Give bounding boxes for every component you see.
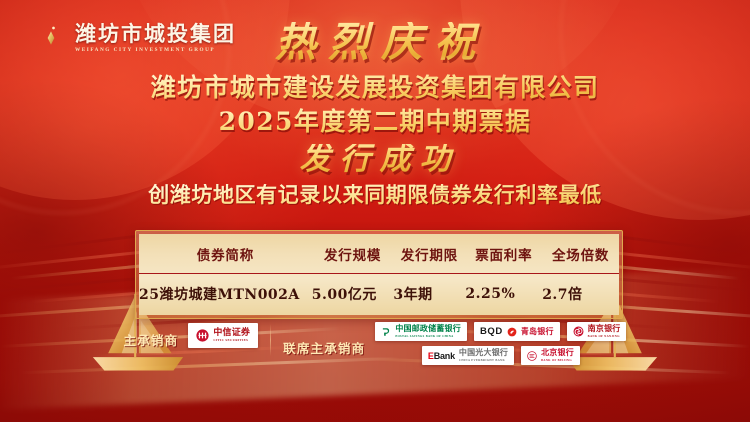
citic-securities-logo: 中信证券 CITIC SECURITIES [188,323,258,348]
joint-underwriter-logos: 中国邮政储蓄银行 POSTAL SAVINGS BANK OF CHINA BQ… [375,322,626,365]
bank-of-beijing-name-cn: 北京银行 [541,349,574,357]
citic-securities-name-en: CITIC SECURITIES [213,339,250,342]
postal-savings-bank-logo: 中国邮政储蓄银行 POSTAL SAVINGS BANK OF CHINA [375,322,467,341]
company-logo-name-cn: 潍坊市城投集团 [75,23,236,45]
everbright-bank-name-cn: 中国光大银行 [459,349,508,357]
lead-underwriter-group: 主承销商 中信证券 CITIC SECURITIES [124,322,259,349]
underwriter-divider [270,324,271,356]
joint-logo-row-2: EBank 中国光大银行 CHINA EVERBRIGHT BANK 北京银行 [375,346,626,365]
headline-record-note: 创潍坊地区有记录以来同期限债券发行利率最低 [0,184,750,207]
citic-securities-logo-icon [196,329,209,342]
headline-company-name: 潍坊市城市建设发展投资集团有限公司 [0,74,750,102]
column-header-issue-scale: 发行规模 [312,234,394,274]
column-header-subscription-multiple: 全场倍数 [542,234,619,274]
underwriters-section: 主承销商 中信证券 CITIC SECURITIES 联席主承销商 [0,322,750,365]
bank-of-qingdao-logo-icon [507,327,517,337]
headline-success: 发行成功 [0,144,750,175]
bank-of-nanjing-name-cn: 南京银行 [588,325,621,333]
company-logo-name-en: WEIFANG CITY INVESTMENT GROUP [75,47,236,53]
cell-bond-name: 25潍坊城建MTN002A [139,274,312,316]
postal-savings-bank-logo-icon [381,327,391,337]
joint-underwriter-label: 联席主承销商 [283,330,365,357]
bank-of-nanjing-name-en: BANK OF NANJING [588,335,621,338]
everbright-bank-name-en: CHINA EVERBRIGHT BANK [459,359,508,362]
celebration-poster: 潍坊市城投集团 WEIFANG CITY INVESTMENT GROUP 热烈… [0,0,750,422]
column-header-bond-name: 债券简称 [139,234,312,274]
bank-of-nanjing-logo-icon [573,326,584,337]
bank-of-qingdao-logo: BQD 青岛银行 [474,322,560,341]
postal-savings-bank-name-en: POSTAL SAVINGS BANK OF CHINA [395,335,461,338]
lead-underwriter-label: 主承销商 [124,322,179,349]
company-logo: 潍坊市城投集团 WEIFANG CITY INVESTMENT GROUP [26,18,236,58]
headline-issue-name: 2025年度第二期中期票据 [0,108,750,136]
bank-of-beijing-name-en: BANK OF BEIJING [541,359,574,362]
table-header-row: 债券简称 发行规模 发行期限 票面利率 全场倍数 [139,234,619,274]
bond-table-frame: 债券简称 发行规模 发行期限 票面利率 全场倍数 25潍坊城建MTN002A 5… [135,230,623,319]
joint-logo-row-1: 中国邮政储蓄银行 POSTAL SAVINGS BANK OF CHINA BQ… [375,322,626,341]
cell-subscription-multiple: 2.7倍 [542,274,619,316]
crescent-moon-logo-icon [26,18,66,58]
everbright-bank-mark: EBank [428,351,455,361]
column-header-issue-term: 发行期限 [393,234,465,274]
postal-savings-bank-name-cn: 中国邮政储蓄银行 [395,325,461,333]
everbright-bank-logo: EBank 中国光大银行 CHINA EVERBRIGHT BANK [422,346,514,365]
cell-coupon-rate: 2.25% [465,274,542,316]
bank-of-beijing-logo-icon [527,351,537,361]
bond-table: 债券简称 发行规模 发行期限 票面利率 全场倍数 25潍坊城建MTN002A 5… [139,234,619,315]
citic-securities-name-cn: 中信证券 [213,329,250,338]
cell-issue-term: 3年期 [393,274,465,316]
table-row: 25潍坊城建MTN002A 5.00亿元 3年期 2.25% 2.7倍 [139,274,619,316]
cell-issue-scale: 5.00亿元 [312,274,394,316]
joint-underwriter-group: 联席主承销商 中国邮政储蓄银行 POSTAL SAVINGS BANK OF C… [283,322,626,365]
bank-of-beijing-logo: 北京银行 BANK OF BEIJING [521,346,580,365]
bank-of-qingdao-mark: BQD [480,326,503,337]
bank-of-qingdao-name-cn: 青岛银行 [521,328,554,336]
everbright-bank-mark-text: Bank [434,351,455,361]
bank-of-nanjing-logo: 南京银行 BANK OF NANJING [567,322,627,341]
column-header-coupon-rate: 票面利率 [465,234,542,274]
